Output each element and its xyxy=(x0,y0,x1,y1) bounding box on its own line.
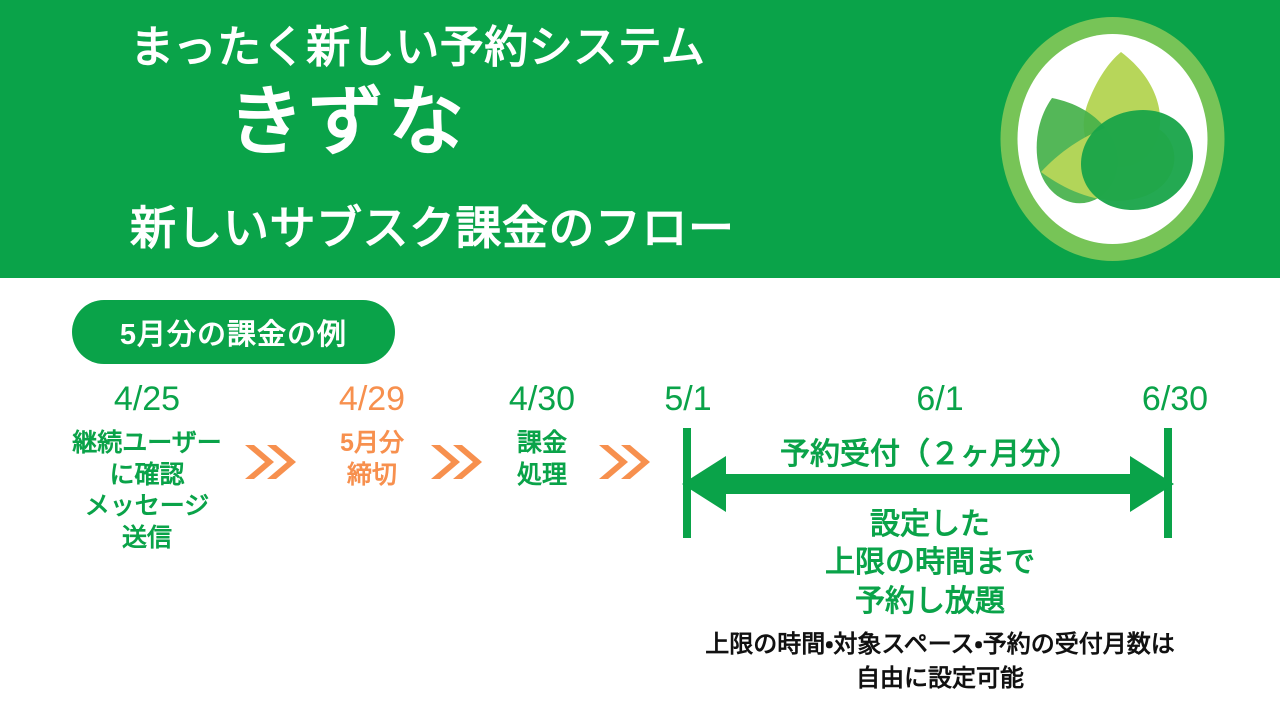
flow-step-1: 4/25 継続ユーザー に確認 メッセージ 送信 xyxy=(52,382,242,554)
timeline-mid-date: 6/1 xyxy=(890,382,990,416)
footnote: 上限の時間・対象スペース・予約の受付月数は 自由に設定可能 xyxy=(640,628,1240,695)
timeline-caption-top: 予約受付（２ヶ月分） xyxy=(680,440,1180,470)
flow-step-2-label: 5月分 締切 xyxy=(297,428,447,491)
header-subtitle: 新しいサブスク課金のフロー xyxy=(130,203,890,254)
timeline-caption-bottom-line-2: 上限の時間まで xyxy=(680,544,1180,582)
timeline-caption-bottom-line-1: 設定した xyxy=(680,506,1180,544)
flow-step-1-label-line-3: メッセージ xyxy=(52,491,242,523)
kizuna-leaf-circle-logo-icon xyxy=(997,14,1228,264)
flow-step-3-label: 課金 処理 xyxy=(467,428,617,491)
flow-step-2: 4/29 5月分 締切 xyxy=(297,382,447,491)
flow-step-2-date: 4/29 xyxy=(297,382,447,416)
flow-step-1-date: 4/25 xyxy=(52,382,242,416)
timeline-caption-bottom-line-3: 予約し放題 xyxy=(680,583,1180,621)
flow-step-1-label-line-4: 送信 xyxy=(52,523,242,555)
flow-step-3: 4/30 課金 処理 xyxy=(467,382,617,491)
billing-flow-steps: 4/25 継続ユーザー に確認 メッセージ 送信 4/29 5月分 締切 xyxy=(52,382,652,602)
flow-step-1-label-line-1: 継続ユーザー xyxy=(52,428,242,460)
header-band: まったく新しい予約システム きずな 新しいサブスク課金のフロー xyxy=(0,0,1280,278)
example-badge-label: 5月分の課金の例 xyxy=(120,311,347,353)
timeline-end-date: 6/30 xyxy=(1120,382,1230,416)
flow-step-1-label: 継続ユーザー に確認 メッセージ 送信 xyxy=(52,428,242,554)
reservation-period-timeline: 5/1 6/1 6/30 予約受付（２ヶ月分） 設定した 上限の時間まで 予約し… xyxy=(640,382,1240,622)
flow-step-2-label-line-1: 5月分 xyxy=(297,428,447,460)
page-title: きずな xyxy=(228,83,828,163)
timeline-caption-bottom: 設定した 上限の時間まで 予約し放題 xyxy=(680,506,1180,621)
header-tagline: まったく新しい予約システム xyxy=(130,24,810,72)
timeline-start-date: 5/1 xyxy=(648,382,728,416)
slide-root: まったく新しい予約システム きずな 新しいサブスク課金のフロー 5月分の課金の例… xyxy=(0,0,1280,720)
flow-step-3-label-line-1: 課金 xyxy=(467,428,617,460)
flow-step-1-label-line-2: に確認 xyxy=(52,460,242,492)
header-text-block: まったく新しい予約システム きずな 新しいサブスク課金のフロー xyxy=(0,0,960,278)
double-chevron-right-icon-1 xyxy=(243,442,299,482)
flow-step-2-label-line-2: 締切 xyxy=(297,460,447,492)
flow-step-3-date: 4/30 xyxy=(467,382,617,416)
example-badge: 5月分の課金の例 xyxy=(72,300,395,364)
flow-step-3-label-line-2: 処理 xyxy=(467,460,617,492)
footnote-line-1: 上限の時間・対象スペース・予約の受付月数は xyxy=(640,628,1240,662)
footnote-line-2: 自由に設定可能 xyxy=(640,662,1240,696)
